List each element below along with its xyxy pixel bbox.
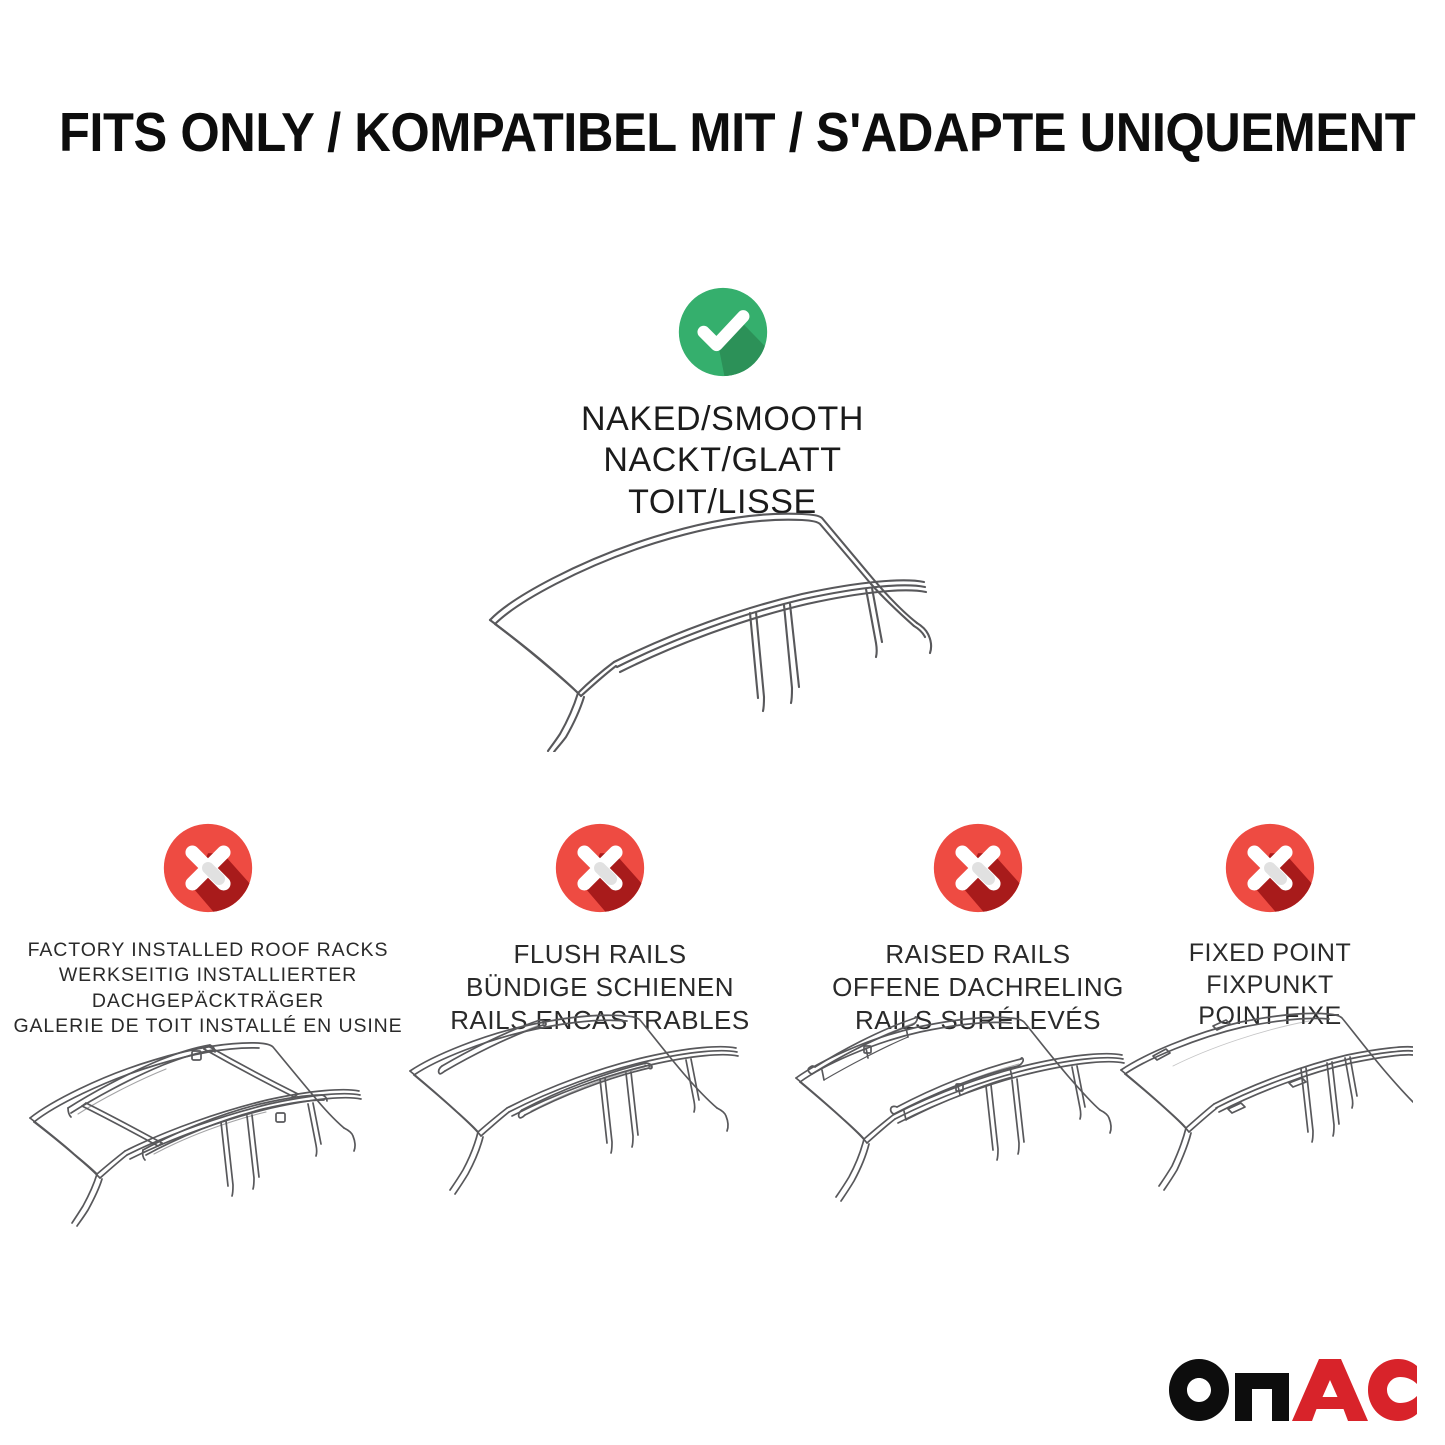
incompatible-caption-4-line-2: FIXPUNKT [1120, 970, 1420, 1002]
page-title-text: FITS ONLY / KOMPATIBEL MIT / S'ADAPTE UN… [59, 104, 1415, 162]
incompatible-caption-2-line-2: BÜNDIGE SCHIENEN [400, 971, 800, 1004]
red-x-circle-icon [8, 822, 408, 930]
compatible-caption-line-1: NAKED/SMOOTH [0, 399, 1445, 440]
incompatible-caption-2-line-1: FLUSH RAILS [400, 938, 800, 971]
incompatible-caption-4-line-1: FIXED POINT [1120, 938, 1420, 970]
car-roof-with-factory-rack-crossbars-illustration [8, 1022, 408, 1257]
compatibility-info-graphic: FITS ONLY / KOMPATIBEL MIT / S'ADAPTE UN… [0, 0, 1445, 1445]
incompatible-item-fixed-point: FIXED POINT FIXPUNKT POINT FIXE [1120, 822, 1420, 1033]
car-roof-with-fixed-points-illustration [1120, 1008, 1420, 1243]
incompatible-caption-1-line-3: DACHGEPÄCKTRÄGER [8, 989, 408, 1014]
car-roof-naked-smooth-illustration [462, 492, 1002, 752]
red-x-circle-icon [1120, 822, 1420, 930]
incompatible-item-factory-installed-roof-racks: FACTORY INSTALLED ROOF RACKS WERKSEITIG … [8, 822, 408, 1039]
incompatible-caption-3-line-2: OFFENE DACHRELING [778, 971, 1178, 1004]
incompatible-item-flush-rails: FLUSH RAILS BÜNDIGE SCHIENEN RAILS ENCAS… [400, 822, 800, 1036]
compatible-section: NAKED/SMOOTH NACKT/GLATT TOIT/LISSE [0, 286, 1445, 523]
page-title: FITS ONLY / KOMPATIBEL MIT / S'ADAPTE UN… [0, 104, 1445, 162]
red-x-circle-icon [778, 822, 1178, 930]
incompatible-caption-1-line-1: FACTORY INSTALLED ROOF RACKS [8, 938, 408, 963]
car-roof-with-flush-rails-illustration [400, 1008, 800, 1243]
incompatible-section: FACTORY INSTALLED ROOF RACKS WERKSEITIG … [0, 822, 1445, 1252]
omac-logo [1169, 1359, 1417, 1421]
incompatible-caption-1-line-2: WERKSEITIG INSTALLIERTER [8, 963, 408, 988]
compatible-caption-line-2: NACKT/GLATT [0, 440, 1445, 481]
incompatible-item-raised-rails: RAISED RAILS OFFENE DACHRELING RAILS SUR… [778, 822, 1178, 1036]
incompatible-caption-3-line-1: RAISED RAILS [778, 938, 1178, 971]
red-x-circle-icon [400, 822, 800, 930]
green-check-circle-icon [0, 286, 1445, 383]
